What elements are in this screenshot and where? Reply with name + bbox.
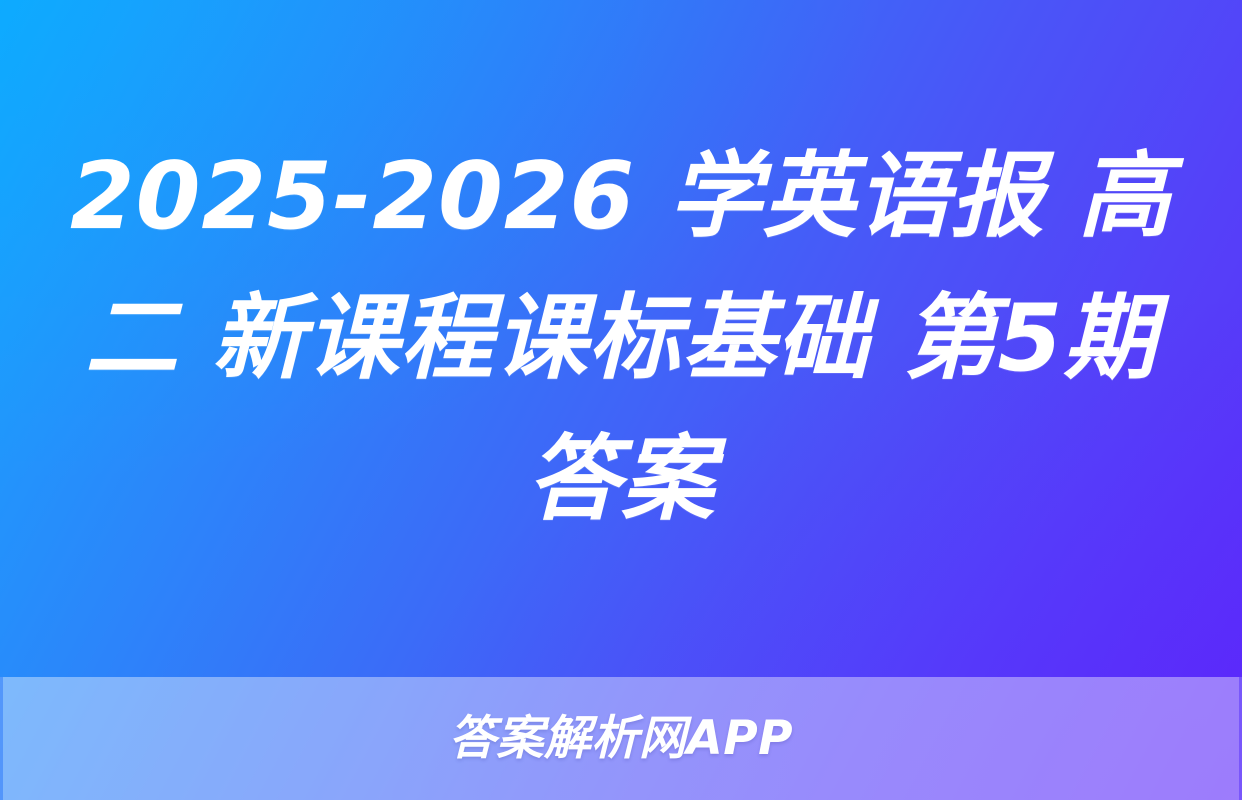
footer-edge-left: [0, 677, 3, 800]
brand-watermark: 答案解析网APP: [449, 715, 793, 762]
poster-canvas: 2025-2026 学英语报 高二 新课程课标基础 第5期答案 答案解析网APP: [0, 0, 1242, 800]
title-area: 2025-2026 学英语报 高二 新课程课标基础 第5期答案: [0, 0, 1242, 677]
page-title: 2025-2026 学英语报 高二 新课程课标基础 第5期答案: [58, 126, 1184, 550]
footer-brand-band: 答案解析网APP: [0, 677, 1242, 800]
